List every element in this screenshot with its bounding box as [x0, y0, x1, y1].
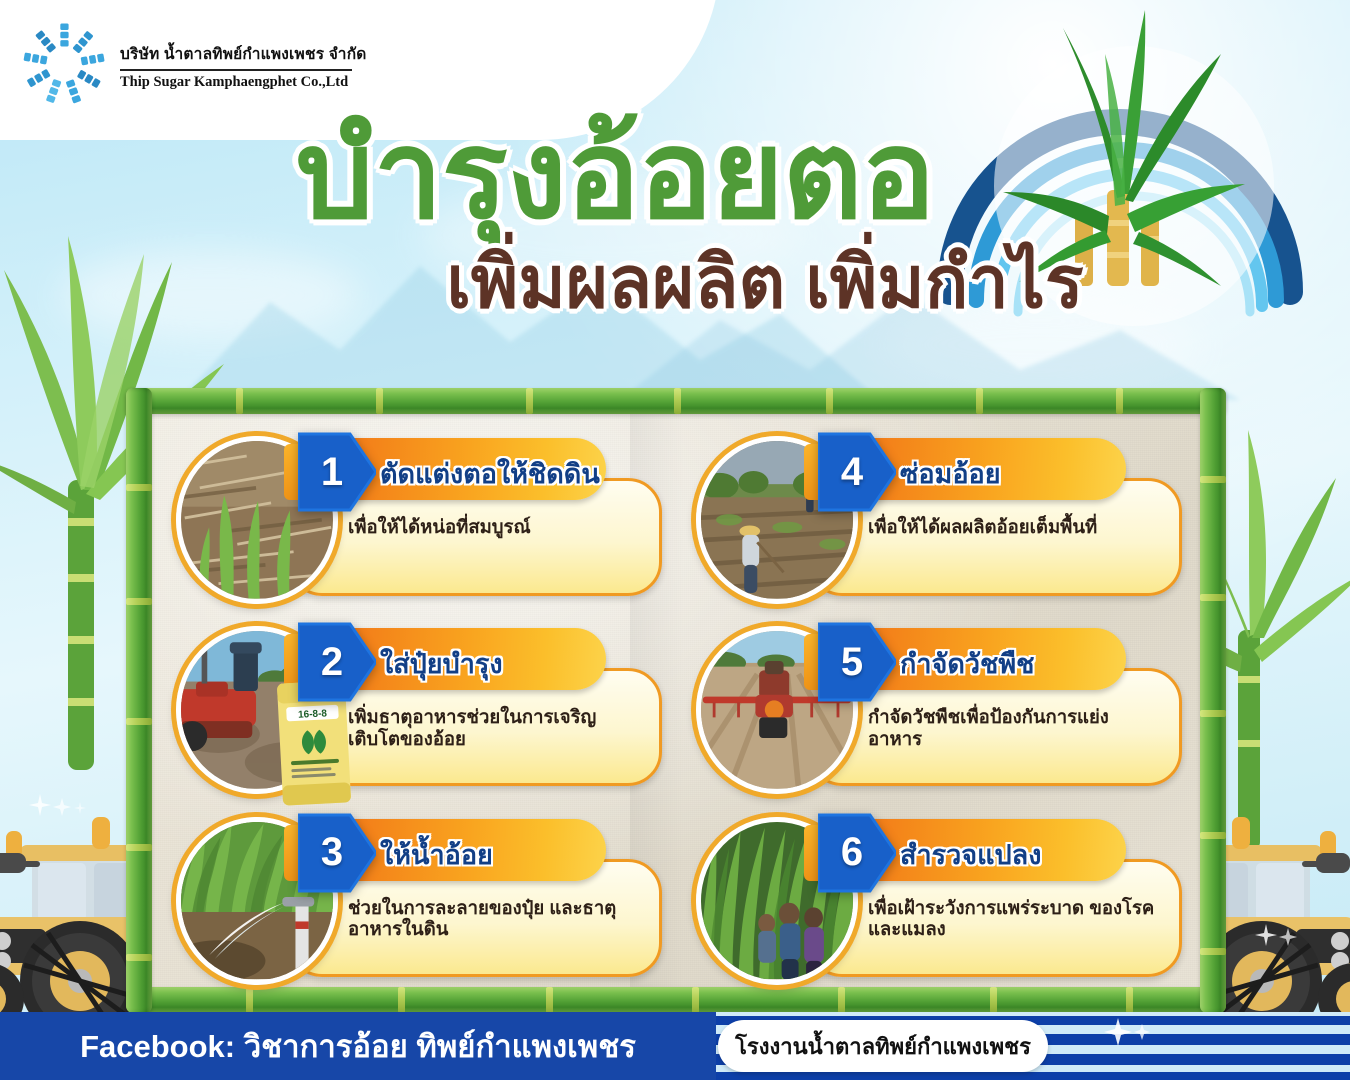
- step-title-text: ตัดแต่งตอให้ชิดดิน: [380, 452, 600, 495]
- sparkle-icon: [28, 792, 88, 822]
- step-description-text: เพื่อให้ได้ผลผลิตอ้อยเต็มพื้นที่: [868, 516, 1156, 538]
- steps-grid: 1 ตัดแต่งตอให้ชิดดิน เพื่อให้ได้หน่อที่ส…: [170, 422, 1182, 985]
- step-description-text: ช่วยในการละลายของปุ๋ย และธาตุอาหารในดิน: [348, 897, 636, 941]
- bamboo-pole-right: [1200, 388, 1226, 1013]
- step-number-text: 1: [298, 430, 376, 514]
- step-description-text: เพิ่มธาตุอาหารช่วยในการเจริญเติบโตของอ้อ…: [348, 706, 636, 750]
- step-title-text: สำรวจแปลง: [900, 833, 1041, 876]
- step-number-badge-6[interactable]: 6: [818, 811, 896, 895]
- step-description-text: เพื่อให้ได้หน่อที่สมบูรณ์: [348, 516, 636, 538]
- company-name-block: บริษัท น้ำตาลทิพย์กำแพงเพชร จำกัด Thip S…: [120, 37, 367, 90]
- circular-mosaic-logo-icon: [18, 18, 110, 110]
- logo-divider: [120, 69, 352, 70]
- step-number-badge-1[interactable]: 1: [298, 430, 376, 514]
- sparkle-icon: [1254, 922, 1314, 952]
- step-card-1[interactable]: 1 ตัดแต่งตอให้ชิดดิน เพื่อให้ได้หน่อที่ส…: [170, 422, 662, 604]
- step-card-6[interactable]: 6 สำรวจแปลง เพื่อเฝ้าระวังการแพร่ระบาด ข…: [690, 803, 1182, 985]
- step-number-text: 2: [298, 620, 376, 704]
- title-block: บำรุงอ้อยตอ เพิ่มผลผลิต เพิ่มกำไร: [0, 118, 1350, 319]
- step-number-text: 3: [298, 811, 376, 895]
- footer-factory-text: โรงงานน้ำตาลทิพย์กำแพงเพชร: [735, 1029, 1031, 1064]
- bamboo-pole-bottom: [126, 987, 1226, 1013]
- step-number-text: 4: [818, 430, 896, 514]
- company-logo: บริษัท น้ำตาลทิพย์กำแพงเพชร จำกัด Thip S…: [18, 18, 367, 110]
- step-description-text: กำจัดวัชพืชเพื่อป้องกันการแย่งอาหาร: [868, 706, 1156, 750]
- step-number-badge-2[interactable]: 2: [298, 620, 376, 704]
- step-number-text: 5: [818, 620, 896, 704]
- step-card-3[interactable]: 3 ให้น้ำอ้อย ช่วยในการละลายของปุ๋ย และธา…: [170, 803, 662, 985]
- step-description-text: เพื่อเฝ้าระวังการแพร่ระบาด ของโรคและแมลง: [868, 897, 1156, 941]
- step-title-text: กำจัดวัชพืช: [900, 642, 1034, 685]
- sparkle-icon: [1100, 1016, 1156, 1050]
- step-number-badge-4[interactable]: 4: [818, 430, 896, 514]
- page-subtitle: เพิ่มผลผลิต เพิ่มกำไร: [0, 247, 1350, 319]
- step-number-text: 6: [818, 811, 896, 895]
- company-name-thai: บริษัท น้ำตาลทิพย์กำแพงเพชร จำกัด: [120, 41, 367, 66]
- footer-facebook-block[interactable]: Facebook: วิชาการอ้อย ทิพย์กำแพงเพชร: [0, 1012, 716, 1080]
- footer-bar: Facebook: วิชาการอ้อย ทิพย์กำแพงเพชร โรง…: [0, 1012, 1350, 1080]
- step-title-text: ให้น้ำอ้อย: [380, 833, 493, 876]
- step-card-4[interactable]: 4 ซ่อมอ้อย เพื่อให้ได้ผลผลิตอ้อยเต็มพื้น…: [690, 422, 1182, 604]
- step-number-badge-5[interactable]: 5: [818, 620, 896, 704]
- step-card-2[interactable]: 16-8-8 2 ใส่ปุ๋ยบำรุง: [170, 612, 662, 794]
- step-title-text: ใส่ปุ๋ยบำรุง: [380, 642, 503, 685]
- bamboo-board: 1 ตัดแต่งตอให้ชิดดิน เพื่อให้ได้หน่อที่ส…: [126, 388, 1226, 1013]
- bamboo-pole-left: [126, 388, 152, 1013]
- footer-facebook-text: Facebook: วิชาการอ้อย ทิพย์กำแพงเพชร: [80, 1021, 636, 1071]
- footer-factory-pill[interactable]: โรงงานน้ำตาลทิพย์กำแพงเพชร: [718, 1020, 1048, 1072]
- step-title-text: ซ่อมอ้อย: [900, 452, 1001, 495]
- page-title: บำรุงอ้อยตอ: [0, 118, 1350, 235]
- step-card-5[interactable]: 5 กำจัดวัชพืช กำจัดวัชพืชเพื่อป้องกันการ…: [690, 612, 1182, 794]
- poster-canvas: บริษัท น้ำตาลทิพย์กำแพงเพชร จำกัด Thip S…: [0, 0, 1350, 1080]
- step-number-badge-3[interactable]: 3: [298, 811, 376, 895]
- company-name-english: Thip Sugar Kamphaengphet Co.,Ltd: [120, 74, 367, 91]
- svg-text:16-8-8: 16-8-8: [298, 709, 328, 722]
- bamboo-pole-top: [126, 388, 1226, 414]
